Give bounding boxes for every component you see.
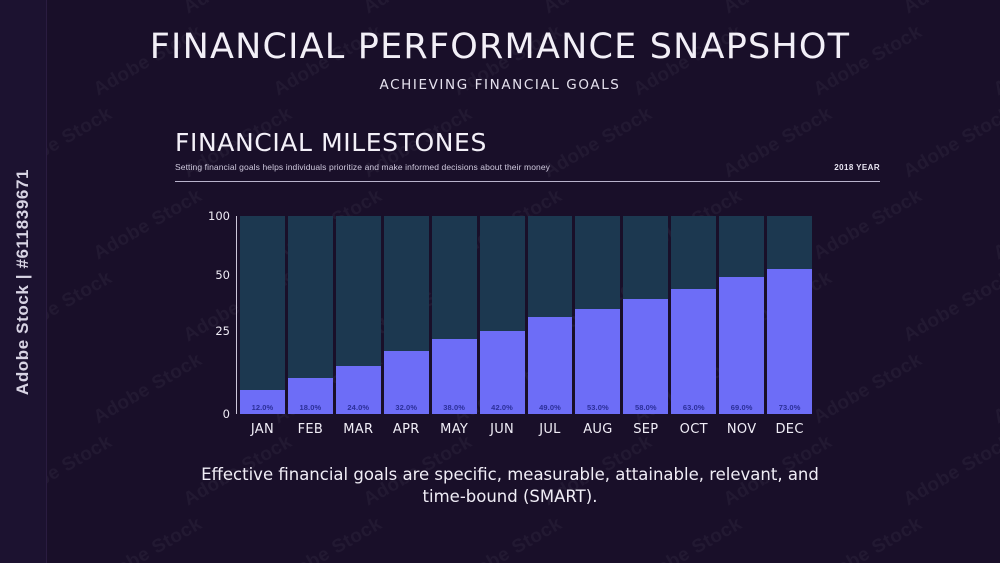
x-axis-labels: JANFEBMARAPRMAYJUNJULAUGSEPOCTNOVDEC [240, 422, 812, 437]
watermark-text: Adobe Stock [450, 513, 566, 563]
bar-fill: 69.0% [719, 277, 764, 414]
bar-value-label: 42.0% [491, 403, 513, 414]
y-axis-line [236, 216, 237, 414]
bar-column[interactable]: 32.0% [384, 216, 429, 414]
bar-fill: 73.0% [767, 269, 812, 414]
bar-column[interactable]: 53.0% [575, 216, 620, 414]
bar-value-label: 38.0% [443, 403, 465, 414]
bar-column[interactable]: 63.0% [671, 216, 716, 414]
x-axis-label: JUL [528, 422, 573, 437]
watermark-text: Adobe Stock [720, 0, 836, 19]
page-subtitle: ACHIEVING FINANCIAL GOALS [0, 77, 1000, 93]
bar-chart: 10050250 12.0%18.0%24.0%32.0%38.0%42.0%4… [200, 214, 820, 446]
bar-column[interactable]: 18.0% [288, 216, 333, 414]
bar-value-label: 24.0% [347, 403, 369, 414]
x-axis-label: NOV [719, 422, 764, 437]
watermark-text: Adobe Stock [900, 267, 1000, 347]
y-axis-tick: 100 [200, 209, 230, 223]
bar-value-label: 73.0% [779, 403, 801, 414]
bar-fill: 18.0% [288, 378, 333, 414]
bar-track [240, 216, 285, 414]
watermark-text: Adobe Stock [360, 0, 476, 19]
chart-plot-area: 12.0%18.0%24.0%32.0%38.0%42.0%49.0%53.0%… [240, 216, 812, 414]
bar-value-label: 69.0% [731, 403, 753, 414]
section-meta-row: Setting financial goals helps individual… [175, 162, 880, 178]
x-axis-label: FEB [288, 422, 333, 437]
section-divider [175, 181, 880, 182]
x-axis-label: APR [384, 422, 429, 437]
y-axis-tick: 50 [200, 268, 230, 282]
adobe-stock-sidebar: Adobe Stock | #611839671 [0, 0, 47, 563]
poster-canvas: Adobe StockAdobe StockAdobe StockAdobe S… [0, 0, 1000, 563]
watermark-text: Adobe Stock [630, 513, 746, 563]
watermark-text: Adobe Stock [990, 185, 1000, 265]
bar-value-label: 53.0% [587, 403, 609, 414]
watermark-text: Adobe Stock [900, 103, 1000, 183]
watermark-text: Adobe Stock [990, 513, 1000, 563]
bar-value-label: 58.0% [635, 403, 657, 414]
watermark-text: Adobe Stock [180, 0, 296, 19]
x-axis-label: AUG [575, 422, 620, 437]
bar-fill: 49.0% [528, 317, 573, 414]
bar-column[interactable]: 38.0% [432, 216, 477, 414]
section-header: FINANCIAL MILESTONES Setting financial g… [175, 130, 880, 182]
bar-value-label: 63.0% [683, 403, 705, 414]
bar-column[interactable]: 58.0% [623, 216, 668, 414]
bar-value-label: 18.0% [299, 403, 321, 414]
watermark-text: Adobe Stock [900, 431, 1000, 511]
page-title: FINANCIAL PERFORMANCE SNAPSHOT [0, 27, 1000, 67]
x-axis-label: JUN [480, 422, 525, 437]
x-axis-label: MAY [432, 422, 477, 437]
watermark-text: Adobe Stock [540, 0, 656, 19]
bar-fill: 53.0% [575, 309, 620, 414]
watermark-text: Adobe Stock [90, 349, 206, 429]
y-axis-tick: 25 [200, 324, 230, 338]
watermark-text: Adobe Stock [810, 185, 926, 265]
adobe-stock-credit: Adobe Stock | #611839671 [13, 168, 33, 394]
bar-column[interactable]: 73.0% [767, 216, 812, 414]
bar-column[interactable]: 12.0% [240, 216, 285, 414]
bar-value-label: 12.0% [252, 403, 274, 414]
watermark-text: Adobe Stock [810, 513, 926, 563]
x-axis-label: OCT [671, 422, 716, 437]
bar-fill: 24.0% [336, 366, 381, 414]
bar-value-label: 49.0% [539, 403, 561, 414]
x-axis-label: SEP [623, 422, 668, 437]
bar-column[interactable]: 69.0% [719, 216, 764, 414]
bar-column[interactable]: 49.0% [528, 216, 573, 414]
year-label: 2018 YEAR [834, 163, 880, 172]
watermark-text: Adobe Stock [810, 349, 926, 429]
watermark-text: Adobe Stock [990, 349, 1000, 429]
bar-fill: 58.0% [623, 299, 668, 414]
watermark-text: Adobe Stock [900, 0, 1000, 19]
bar-column[interactable]: 24.0% [336, 216, 381, 414]
bar-value-label: 32.0% [395, 403, 417, 414]
bar-fill: 38.0% [432, 339, 477, 414]
bar-fill: 32.0% [384, 351, 429, 414]
section-description: Setting financial goals helps individual… [175, 162, 550, 172]
x-axis-label: JAN [240, 422, 285, 437]
bar-fill: 12.0% [240, 390, 285, 414]
watermark-text: Adobe Stock [270, 513, 386, 563]
caption-text: Effective financial goals are specific, … [200, 464, 820, 509]
x-axis-label: DEC [767, 422, 812, 437]
bar-fill: 63.0% [671, 289, 716, 414]
x-axis-label: MAR [336, 422, 381, 437]
watermark-text: Adobe Stock [90, 185, 206, 265]
y-axis-tick: 0 [200, 407, 230, 421]
bar-fill: 42.0% [480, 331, 525, 414]
bar-column[interactable]: 42.0% [480, 216, 525, 414]
section-title: FINANCIAL MILESTONES [175, 130, 880, 156]
watermark-text: Adobe Stock [90, 513, 206, 563]
